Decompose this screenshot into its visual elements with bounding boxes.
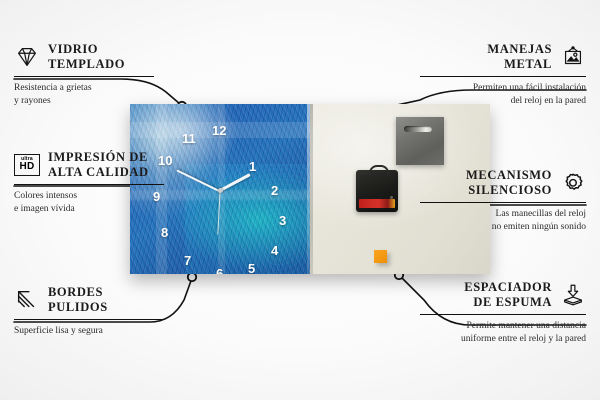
clock-numeral-1: 1 (249, 160, 256, 173)
clock-numeral-3: 3 (279, 214, 286, 227)
feature-header: VIDRIO TEMPLADO (14, 42, 154, 72)
feature-divider (14, 184, 164, 186)
clock-numeral-8: 8 (161, 226, 168, 239)
clock-numeral-5: 5 (248, 262, 255, 274)
clock-face-moire (185, 164, 310, 274)
clock-numeral-12: 12 (212, 124, 226, 137)
feature-title: MECANISMO SILENCIOSO (466, 168, 552, 198)
feature-mecanismo-silencioso: MECANISMO SILENCIOSO Las manecillas del … (420, 168, 586, 234)
diamond-icon (14, 45, 40, 69)
feature-divider (420, 76, 586, 78)
feature-title: BORDES PULIDOS (48, 285, 108, 315)
feature-header: ultra HD IMPRESIÓN DE ALTA CALIDAD (14, 150, 164, 180)
feature-subtitle: Colores intensos e imagen vívida (14, 190, 164, 216)
feature-bordes-pulidos: BORDES PULIDOS Superficie lisa y segura (14, 285, 164, 338)
feature-manejas-metal: MANEJAS METAL Permiten una fácil instala… (420, 42, 586, 108)
feature-subtitle: Resistencia a grietas y rayones (14, 82, 154, 108)
clock-numeral-6: 6 (216, 267, 223, 274)
feature-divider (420, 314, 586, 316)
wall-hanging-icon (560, 45, 586, 69)
feature-vidrio-templado: VIDRIO TEMPLADO Resistencia a grietas y … (14, 42, 154, 108)
clock-numeral-7: 7 (184, 254, 191, 267)
feature-divider (14, 76, 154, 78)
feature-header: ESPACIADOR DE ESPUMA (420, 280, 586, 310)
feature-header: MECANISMO SILENCIOSO (420, 168, 586, 198)
hanger-keyhole-slot (404, 126, 432, 132)
connector-dot-bordes (188, 273, 196, 281)
polished-edges-icon (14, 288, 40, 312)
foam-spacer-icon (560, 283, 586, 307)
feature-title: IMPRESIÓN DE ALTA CALIDAD (48, 150, 149, 180)
feature-divider (14, 319, 164, 321)
feature-header: MANEJAS METAL (420, 42, 586, 72)
clock-numeral-4: 4 (271, 244, 278, 257)
clock-numeral-2: 2 (271, 184, 278, 197)
feature-subtitle: Permiten una fácil instalación del reloj… (420, 82, 586, 108)
foam-spacer-pad (374, 250, 387, 263)
feature-title: VIDRIO TEMPLADO (48, 42, 125, 72)
mechanism-body (360, 175, 394, 195)
feature-impresion-alta-calidad: ultra HD IMPRESIÓN DE ALTA CALIDAD Color… (14, 150, 164, 216)
feature-subtitle: Permite mantener una distancia uniforme … (420, 320, 586, 346)
clock-center-hub (218, 188, 223, 193)
feature-title: MANEJAS METAL (487, 42, 552, 72)
clock-mechanism-box (356, 170, 398, 212)
infographic-canvas: 1 2 3 4 5 6 7 8 9 10 11 12 (0, 0, 600, 400)
feature-espaciador-espuma: ESPACIADOR DE ESPUMA Permite mantener un… (420, 280, 586, 346)
feature-title: ESPACIADOR DE ESPUMA (464, 280, 552, 310)
mechanism-label (359, 199, 395, 208)
feature-divider (420, 202, 586, 204)
metal-hanger-plate (396, 117, 444, 165)
ultra-hd-icon: ultra HD (14, 154, 40, 176)
feature-subtitle: Las manecillas del reloj no emiten ningú… (420, 208, 586, 234)
clock-numeral-11: 11 (182, 132, 196, 145)
gear-icon (560, 171, 586, 195)
feature-header: BORDES PULIDOS (14, 285, 164, 315)
feature-subtitle: Superficie lisa y segura (14, 325, 164, 338)
